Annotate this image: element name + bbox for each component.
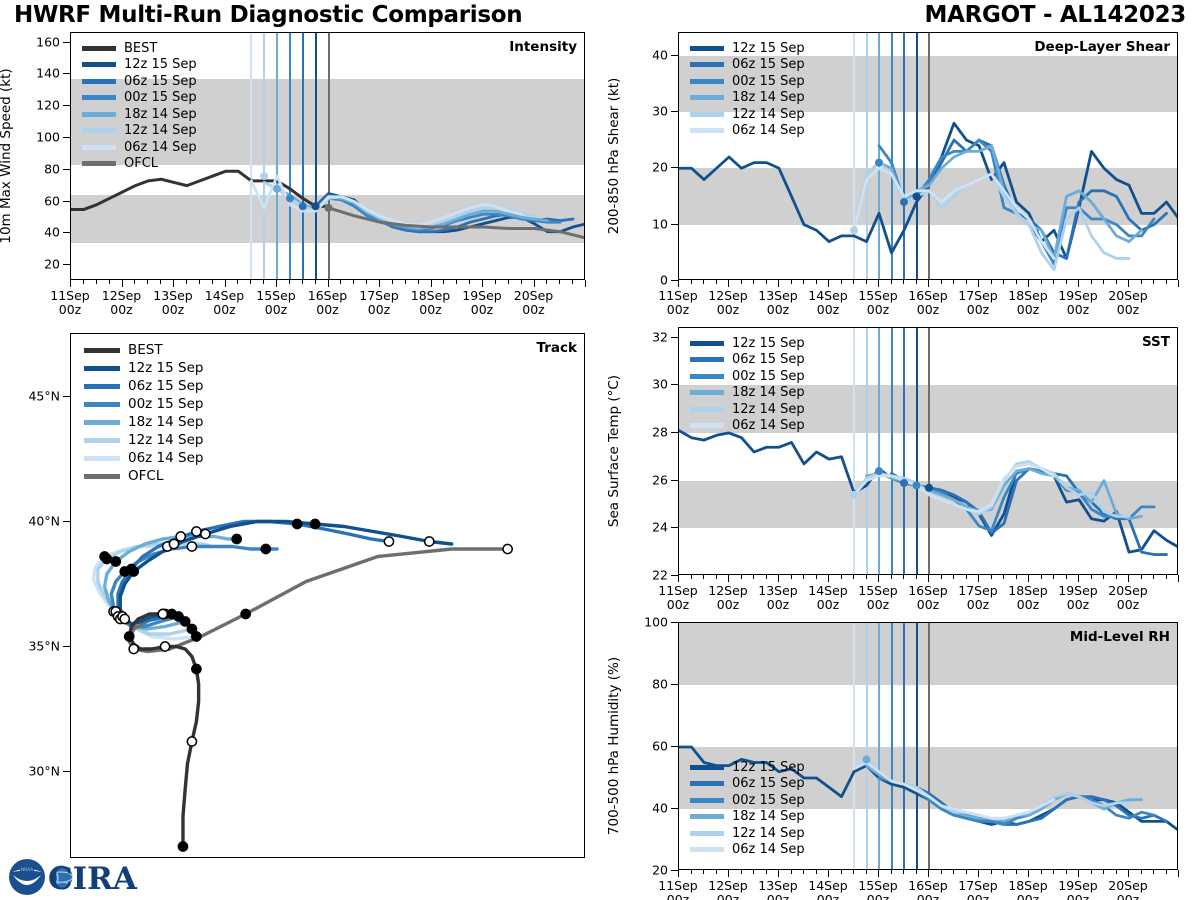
legend-label-12z-14-Sep: 12z 14 Sep bbox=[732, 402, 805, 417]
legend-label-12z-14-Sep: 12z 14 Sep bbox=[128, 432, 203, 448]
legend-label-06z-15-Sep: 06z 15 Sep bbox=[732, 57, 805, 72]
y-tick-rh-80 bbox=[671, 684, 678, 685]
legend-label-00z-15-Sep: 00z 15 Sep bbox=[732, 369, 805, 384]
legend-item-OFCL: OFCL bbox=[84, 467, 203, 485]
y-tick-rh-20 bbox=[671, 870, 678, 871]
legend-item-12z-14-Sep: 12z 14 Sep bbox=[690, 106, 805, 123]
y-tick-rh-100 bbox=[671, 622, 678, 623]
series-line-06z-14-Sep bbox=[854, 763, 1054, 819]
x-label-day: 19Sep bbox=[1058, 878, 1097, 893]
legend-swatch-06z-15-Sep bbox=[82, 79, 116, 84]
x-tick-minor-rh-54 bbox=[791, 870, 792, 874]
x-tick-minor-rh-36 bbox=[753, 870, 754, 874]
x-tick-label-rh-1: 12Sep00z bbox=[708, 879, 747, 900]
legend-swatch-00z-15-Sep bbox=[690, 79, 724, 84]
x-label-hour: 00z bbox=[1017, 892, 1039, 900]
legend-swatch-12z-15-Sep bbox=[82, 62, 116, 67]
legend-label-12z-15-Sep: 12z 15 Sep bbox=[732, 336, 805, 351]
x-tick-label-rh-6: 17Sep00z bbox=[958, 879, 997, 900]
legend-item-00z-15-Sep: 00z 15 Sep bbox=[690, 73, 805, 90]
legend-label-12z-15-Sep: 12z 15 Sep bbox=[124, 57, 197, 72]
x-tick-minor-rh-6 bbox=[691, 870, 692, 874]
legend-swatch-00z-15-Sep bbox=[82, 95, 116, 100]
x-tick-minor-rh-114 bbox=[916, 870, 917, 874]
x-tick-minor-rh-42 bbox=[766, 870, 767, 874]
legend-label-18z-14-Sep: 18z 14 Sep bbox=[732, 90, 805, 105]
legend-item-06z-14-Sep: 06z 14 Sep bbox=[82, 139, 197, 156]
legend-label-BEST: BEST bbox=[128, 342, 163, 358]
x-tick-major-rh-144 bbox=[978, 870, 979, 877]
init-point-marker-2 bbox=[273, 185, 281, 193]
x-label-hour: 00z bbox=[917, 892, 939, 900]
legend-label-12z-14-Sep: 12z 14 Sep bbox=[732, 107, 805, 122]
logo-group: NOAA CIRA bbox=[8, 856, 138, 898]
legend-swatch-06z-14-Sep bbox=[690, 847, 724, 852]
x-tick-major-rh-48 bbox=[778, 870, 779, 877]
legend-item-00z-15-Sep: 00z 15 Sep bbox=[82, 90, 197, 107]
x-tick-major-rh-192 bbox=[1078, 870, 1079, 877]
legend-swatch-12z-14-Sep bbox=[690, 831, 724, 836]
y-tick-label-rh-60: 60 bbox=[652, 739, 668, 754]
y-tick-rh-40 bbox=[671, 808, 678, 809]
legend-label-06z-15-Sep: 06z 15 Sep bbox=[124, 74, 197, 89]
legend-item-06z-15-Sep: 06z 15 Sep bbox=[690, 57, 805, 74]
legend-item-00z-15-Sep: 00z 15 Sep bbox=[690, 368, 805, 385]
x-tick-minor-rh-150 bbox=[991, 870, 992, 874]
y-tick-label-rh-20: 20 bbox=[652, 863, 668, 878]
svg-text:NOAA: NOAA bbox=[21, 867, 33, 872]
legend-item-BEST: BEST bbox=[82, 40, 197, 57]
x-tick-minor-rh-198 bbox=[1091, 870, 1092, 874]
x-tick-major-rh-168 bbox=[1028, 870, 1029, 877]
init-point-marker-4 bbox=[913, 481, 921, 489]
x-tick-minor-rh-126 bbox=[941, 870, 942, 874]
init-point-marker-4 bbox=[299, 202, 307, 210]
legend-label-18z-14-Sep: 18z 14 Sep bbox=[124, 107, 197, 122]
legend-swatch-06z-14-Sep bbox=[690, 128, 724, 133]
x-tick-major-rh-72 bbox=[828, 870, 829, 877]
legend-item-18z-14-Sep: 18z 14 Sep bbox=[690, 809, 805, 826]
legend-swatch-18z-14-Sep bbox=[690, 814, 724, 819]
legend-swatch-06z-15-Sep bbox=[84, 384, 120, 389]
x-tick-minor-rh-102 bbox=[891, 870, 892, 874]
legend-item-18z-14-Sep: 18z 14 Sep bbox=[690, 385, 805, 402]
legend-item-12z-15-Sep: 12z 15 Sep bbox=[690, 759, 805, 776]
legend-swatch-OFCL bbox=[82, 161, 116, 166]
x-label-hour: 00z bbox=[1067, 892, 1089, 900]
legend-label-06z-14-Sep: 06z 14 Sep bbox=[732, 123, 805, 138]
x-label-day: 13Sep bbox=[758, 878, 797, 893]
legend-swatch-12z-14-Sep bbox=[82, 128, 116, 133]
x-tick-minor-rh-132 bbox=[953, 870, 954, 874]
legend-item-12z-15-Sep: 12z 15 Sep bbox=[690, 40, 805, 57]
x-tick-minor-rh-156 bbox=[1003, 870, 1004, 874]
x-tick-label-rh-8: 19Sep00z bbox=[1058, 879, 1097, 900]
y-tick-label-rh-40: 40 bbox=[652, 801, 668, 816]
legend-item-18z-14-Sep: 18z 14 Sep bbox=[84, 413, 203, 431]
legend-swatch-06z-14-Sep bbox=[84, 456, 120, 461]
x-tick-minor-rh-108 bbox=[903, 870, 904, 874]
legend-label-18z-14-Sep: 18z 14 Sep bbox=[732, 809, 805, 824]
init-point-marker-1 bbox=[850, 226, 858, 234]
series-line-00z-15-Sep bbox=[879, 469, 1154, 531]
legend-intensity: BEST12z 15 Sep06z 15 Sep00z 15 Sep18z 14… bbox=[82, 40, 197, 172]
x-tick-label-rh-4: 15Sep00z bbox=[858, 879, 897, 900]
x-tick-minor-rh-174 bbox=[1041, 870, 1042, 874]
legend-swatch-00z-15-Sep bbox=[84, 402, 120, 407]
legend-swatch-12z-15-Sep bbox=[690, 765, 724, 770]
x-tick-major-rh-96 bbox=[878, 870, 879, 877]
legend-item-06z-14-Sep: 06z 14 Sep bbox=[84, 449, 203, 467]
legend-item-18z-14-Sep: 18z 14 Sep bbox=[690, 90, 805, 107]
panel-title-shear: Deep-Layer Shear bbox=[1034, 39, 1170, 55]
panel-title-track: Track bbox=[537, 340, 577, 356]
legend-item-06z-14-Sep: 06z 14 Sep bbox=[690, 123, 805, 140]
legend-label-12z-15-Sep: 12z 15 Sep bbox=[128, 360, 203, 376]
legend-label-12z-15-Sep: 12z 15 Sep bbox=[732, 41, 805, 56]
init-point-marker-3 bbox=[900, 198, 908, 206]
init-point-marker-5 bbox=[312, 202, 320, 210]
legend-label-00z-15-Sep: 00z 15 Sep bbox=[124, 90, 197, 105]
x-tick-minor-rh-90 bbox=[866, 870, 867, 874]
legend-rh: 12z 15 Sep06z 15 Sep00z 15 Sep18z 14 Sep… bbox=[690, 759, 805, 858]
legend-item-12z-14-Sep: 12z 14 Sep bbox=[690, 401, 805, 418]
y-tick-rh-60 bbox=[671, 746, 678, 747]
init-point-marker-2 bbox=[875, 159, 883, 167]
legend-label-06z-15-Sep: 06z 15 Sep bbox=[732, 776, 805, 791]
x-label-day: 20Sep bbox=[1108, 878, 1147, 893]
x-label-hour: 00z bbox=[867, 892, 889, 900]
y-tick-label-rh-100: 100 bbox=[644, 615, 668, 630]
x-label-day: 17Sep bbox=[958, 878, 997, 893]
x-label-day: 15Sep bbox=[858, 878, 897, 893]
x-tick-minor-rh-180 bbox=[1053, 870, 1054, 874]
x-tick-minor-rh-84 bbox=[853, 870, 854, 874]
legend-swatch-18z-14-Sep bbox=[690, 390, 724, 395]
legend-swatch-06z-14-Sep bbox=[82, 145, 116, 150]
legend-label-18z-14-Sep: 18z 14 Sep bbox=[732, 385, 805, 400]
init-point-marker-3 bbox=[286, 194, 294, 202]
legend-item-BEST: BEST bbox=[84, 341, 203, 359]
legend-item-06z-15-Sep: 06z 15 Sep bbox=[690, 776, 805, 793]
legend-label-OFCL: OFCL bbox=[128, 468, 163, 484]
legend-sst: 12z 15 Sep06z 15 Sep00z 15 Sep18z 14 Sep… bbox=[690, 335, 805, 434]
legend-swatch-00z-15-Sep bbox=[690, 374, 724, 379]
legend-item-12z-15-Sep: 12z 15 Sep bbox=[690, 335, 805, 352]
legend-swatch-12z-14-Sep bbox=[690, 407, 724, 412]
legend-swatch-BEST bbox=[84, 348, 120, 353]
x-tick-major-rh-120 bbox=[928, 870, 929, 877]
legend-swatch-06z-15-Sep bbox=[690, 781, 724, 786]
x-tick-minor-rh-12 bbox=[703, 870, 704, 874]
x-label-day: 11Sep bbox=[658, 878, 697, 893]
legend-swatch-12z-14-Sep bbox=[84, 438, 120, 443]
x-tick-minor-rh-78 bbox=[841, 870, 842, 874]
x-label-hour: 00z bbox=[717, 892, 739, 900]
init-point-marker-5 bbox=[925, 484, 933, 492]
legend-item-12z-15-Sep: 12z 15 Sep bbox=[84, 359, 203, 377]
legend-swatch-18z-14-Sep bbox=[82, 112, 116, 117]
legend-item-06z-15-Sep: 06z 15 Sep bbox=[82, 73, 197, 90]
init-point-marker-3 bbox=[900, 479, 908, 487]
x-label-hour: 00z bbox=[967, 892, 989, 900]
x-tick-minor-rh-228 bbox=[1153, 870, 1154, 874]
x-tick-label-rh-9: 20Sep00z bbox=[1108, 879, 1147, 900]
x-tick-minor-rh-60 bbox=[803, 870, 804, 874]
legend-item-06z-14-Sep: 06z 14 Sep bbox=[690, 842, 805, 859]
x-label-hour: 00z bbox=[767, 892, 789, 900]
x-label-day: 18Sep bbox=[1008, 878, 1047, 893]
panel-title-rh: Mid-Level RH bbox=[1070, 629, 1170, 645]
legend-item-12z-14-Sep: 12z 14 Sep bbox=[84, 431, 203, 449]
legend-swatch-12z-15-Sep bbox=[690, 46, 724, 51]
legend-label-06z-14-Sep: 06z 14 Sep bbox=[732, 418, 805, 433]
x-tick-minor-rh-162 bbox=[1016, 870, 1017, 874]
x-tick-label-rh-7: 18Sep00z bbox=[1008, 879, 1047, 900]
x-tick-label-rh-3: 14Sep00z bbox=[808, 879, 847, 900]
legend-track: BEST12z 15 Sep06z 15 Sep00z 15 Sep18z 14… bbox=[84, 341, 203, 485]
x-label-hour: 00z bbox=[1117, 892, 1139, 900]
init-point-marker-1 bbox=[850, 491, 858, 499]
legend-item-12z-14-Sep: 12z 14 Sep bbox=[690, 825, 805, 842]
x-tick-minor-rh-30 bbox=[741, 870, 742, 874]
legend-swatch-12z-14-Sep bbox=[690, 112, 724, 117]
legend-label-06z-14-Sep: 06z 14 Sep bbox=[128, 450, 203, 466]
init-point-marker-4 bbox=[913, 192, 921, 200]
legend-item-OFCL: OFCL bbox=[82, 156, 197, 173]
legend-swatch-18z-14-Sep bbox=[690, 95, 724, 100]
legend-label-18z-14-Sep: 18z 14 Sep bbox=[128, 414, 203, 430]
svg-text:CIRA: CIRA bbox=[48, 861, 138, 897]
legend-label-06z-14-Sep: 06z 14 Sep bbox=[124, 140, 197, 155]
legend-label-12z-14-Sep: 12z 14 Sep bbox=[732, 826, 805, 841]
x-label-day: 14Sep bbox=[808, 878, 847, 893]
x-tick-minor-rh-204 bbox=[1103, 870, 1104, 874]
x-tick-major-rh-0 bbox=[678, 870, 679, 877]
y-axis-title-rh: 700-500 hPa Humidity (%) bbox=[606, 657, 622, 835]
x-tick-major-rh-24 bbox=[728, 870, 729, 877]
x-tick-minor-rh-234 bbox=[1166, 870, 1167, 874]
panel-title-intensity: Intensity bbox=[509, 39, 577, 55]
init-point-marker-1 bbox=[863, 755, 871, 763]
x-tick-label-rh-5: 16Sep00z bbox=[908, 879, 947, 900]
x-tick-minor-rh-210 bbox=[1116, 870, 1117, 874]
x-label-day: 16Sep bbox=[908, 878, 947, 893]
legend-item-00z-15-Sep: 00z 15 Sep bbox=[84, 395, 203, 413]
legend-item-06z-15-Sep: 06z 15 Sep bbox=[690, 352, 805, 369]
series-line-06z-14-Sep bbox=[854, 168, 1054, 258]
series-line-12z-14-Sep bbox=[854, 462, 1129, 517]
x-tick-label-rh-0: 11Sep00z bbox=[658, 879, 697, 900]
legend-item-00z-15-Sep: 00z 15 Sep bbox=[690, 792, 805, 809]
legend-item-12z-14-Sep: 12z 14 Sep bbox=[82, 123, 197, 140]
y-tick-label-rh-80: 80 bbox=[652, 677, 668, 692]
legend-item-12z-15-Sep: 12z 15 Sep bbox=[82, 57, 197, 74]
init-point-marker-6 bbox=[325, 204, 333, 212]
legend-label-OFCL: OFCL bbox=[124, 156, 158, 171]
legend-swatch-12z-15-Sep bbox=[690, 341, 724, 346]
legend-label-00z-15-Sep: 00z 15 Sep bbox=[732, 74, 805, 89]
legend-swatch-BEST bbox=[82, 46, 116, 51]
legend-swatch-06z-14-Sep bbox=[690, 423, 724, 428]
panel-title-sst: SST bbox=[1142, 334, 1170, 350]
legend-label-06z-15-Sep: 06z 15 Sep bbox=[732, 352, 805, 367]
series-line-18z-14-Sep bbox=[867, 766, 1142, 822]
x-tick-minor-rh-186 bbox=[1066, 870, 1067, 874]
legend-item-18z-14-Sep: 18z 14 Sep bbox=[82, 106, 197, 123]
x-tick-label-rh-2: 13Sep00z bbox=[758, 879, 797, 900]
legend-label-06z-15-Sep: 06z 15 Sep bbox=[128, 378, 203, 394]
x-label-hour: 00z bbox=[667, 892, 689, 900]
legend-shear: 12z 15 Sep06z 15 Sep00z 15 Sep18z 14 Sep… bbox=[690, 40, 805, 139]
x-tick-minor-rh-138 bbox=[966, 870, 967, 874]
x-label-day: 12Sep bbox=[708, 878, 747, 893]
x-tick-minor-rh-222 bbox=[1141, 870, 1142, 874]
x-label-hour: 00z bbox=[817, 892, 839, 900]
x-tick-major-rh-216 bbox=[1128, 870, 1129, 877]
legend-swatch-18z-14-Sep bbox=[84, 420, 120, 425]
legend-swatch-OFCL bbox=[84, 474, 120, 479]
legend-swatch-06z-15-Sep bbox=[690, 62, 724, 67]
noaa-seabird-icon: NOAA bbox=[9, 859, 45, 895]
legend-label-06z-14-Sep: 06z 14 Sep bbox=[732, 842, 805, 857]
legend-label-00z-15-Sep: 00z 15 Sep bbox=[732, 793, 805, 808]
series-line-12z-14-Sep bbox=[854, 759, 1129, 818]
legend-label-12z-14-Sep: 12z 14 Sep bbox=[124, 123, 197, 138]
x-tick-minor-rh-18 bbox=[716, 870, 717, 874]
init-point-marker-2 bbox=[875, 467, 883, 475]
legend-item-06z-14-Sep: 06z 14 Sep bbox=[690, 418, 805, 435]
init-point-marker-1 bbox=[260, 172, 268, 180]
legend-swatch-06z-15-Sep bbox=[690, 357, 724, 362]
legend-label-12z-15-Sep: 12z 15 Sep bbox=[732, 760, 805, 775]
legend-item-06z-15-Sep: 06z 15 Sep bbox=[84, 377, 203, 395]
legend-swatch-00z-15-Sep bbox=[690, 798, 724, 803]
legend-label-BEST: BEST bbox=[124, 41, 157, 56]
x-tick-major-rh-240 bbox=[1178, 870, 1179, 877]
legend-label-00z-15-Sep: 00z 15 Sep bbox=[128, 396, 203, 412]
x-tick-minor-rh-66 bbox=[816, 870, 817, 874]
cira-wordmark: CIRA bbox=[48, 861, 138, 897]
legend-swatch-12z-15-Sep bbox=[84, 366, 120, 371]
